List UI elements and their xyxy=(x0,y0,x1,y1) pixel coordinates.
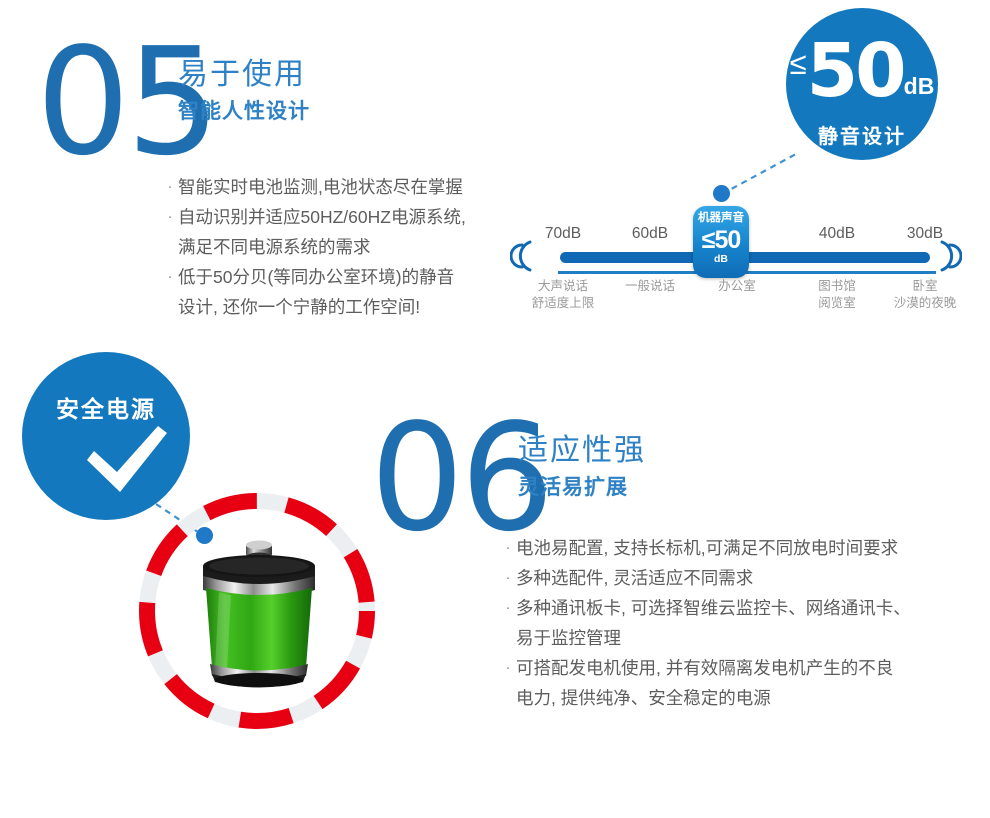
list-item-line: 电力, 提供纯净、安全稳定的电源 xyxy=(516,683,970,713)
section-06-bullet-list: · 电池易配置, 支持长标机,可满足不同放电时间要求 · 多种选配件, 灵活适应… xyxy=(500,533,970,713)
scale-tick-0: 70dB xyxy=(528,225,598,243)
list-item: · 可搭配发电机使用, 并有效隔离发电机产生的不良 电力, 提供纯净、安全稳定的… xyxy=(500,653,970,713)
less-equal-icon: ≤ xyxy=(790,46,807,81)
section-06-heading-group: 适应性强 灵活易扩展 xyxy=(518,434,646,499)
quiet-design-badge: ≤50dB 静音设计 xyxy=(786,8,938,160)
list-item-line: 多种通讯板卡, 可选择智维云监控卡、网络通讯卡、 xyxy=(516,593,970,623)
list-item: · 低于50分贝(等同办公室环境)的静音 设计, 还你一个宁静的工作空间! xyxy=(162,262,522,322)
list-item: · 电池易配置, 支持长标机,可满足不同放电时间要求 xyxy=(500,533,970,563)
quiet-badge-value: 50 xyxy=(807,28,904,114)
list-item-line: 设计, 还你一个宁静的工作空间! xyxy=(178,292,522,322)
sound-wave-left-icon xyxy=(510,239,536,273)
scale-tick-4: 30dB xyxy=(890,225,960,243)
machine-sound-badge: 机器声音 ≤50 dB xyxy=(693,206,749,278)
quiet-badge-unit: dB xyxy=(904,73,935,99)
list-item: · 智能实时电池监测,电池状态尽在掌握 xyxy=(162,172,522,202)
list-item-line: 低于50分贝(等同办公室环境)的静音 xyxy=(178,262,522,292)
bullet-dot-icon: · xyxy=(162,172,178,202)
battery-graphic-group xyxy=(133,487,381,735)
machine-badge-unit: dB xyxy=(693,254,749,265)
section-05-heading-group: 易于使用 智能人性设计 xyxy=(178,58,310,123)
check-mark-icon xyxy=(84,424,170,496)
list-item-line: 多种选配件, 灵活适应不同需求 xyxy=(516,563,970,593)
list-item-line: 电池易配置, 支持长标机,可满足不同放电时间要求 xyxy=(516,533,970,563)
scale-tick-1: 60dB xyxy=(615,225,685,243)
scale-label-4: 卧室 沙漠的夜晚 xyxy=(882,278,968,312)
bullet-dot-icon: · xyxy=(500,653,516,683)
connector-dot-quiet xyxy=(713,185,730,202)
list-item-line: 智能实时电池监测,电池状态尽在掌握 xyxy=(178,172,522,202)
bullet-dot-icon: · xyxy=(500,563,516,593)
list-item: · 多种选配件, 灵活适应不同需求 xyxy=(500,563,970,593)
quiet-badge-label: 静音设计 xyxy=(786,120,938,149)
battery-icon xyxy=(195,540,323,692)
sound-wave-right-icon xyxy=(936,239,962,273)
section-05-bullet-list: · 智能实时电池监测,电池状态尽在掌握 · 自动识别并适应50HZ/60HZ电源… xyxy=(162,172,522,322)
scale-label-1: 一般说话 xyxy=(607,278,693,295)
list-item-line: 自动识别并适应50HZ/60HZ电源系统, xyxy=(178,202,522,232)
quiet-badge-value-group: ≤50dB xyxy=(786,34,938,108)
bullet-dot-icon: · xyxy=(500,593,516,623)
section-05-subheading: 智能人性设计 xyxy=(178,100,310,123)
list-item-line: 可搭配发电机使用, 并有效隔离发电机产生的不良 xyxy=(516,653,970,683)
bullet-dot-icon: · xyxy=(162,202,178,232)
list-item: · 自动识别并适应50HZ/60HZ电源系统, 满足不同电源系统的需求 xyxy=(162,202,522,262)
machine-badge-value: ≤50 xyxy=(693,228,749,253)
section-05-heading: 易于使用 xyxy=(178,58,310,91)
machine-badge-title: 机器声音 xyxy=(693,206,749,225)
bullet-dot-icon: · xyxy=(500,533,516,563)
section-06-subheading: 灵活易扩展 xyxy=(518,476,646,499)
bullet-dot-icon: · xyxy=(162,262,178,292)
scale-label-0: 大声说话 舒适度上限 xyxy=(520,278,606,312)
scale-label-2: 办公室 xyxy=(694,278,780,295)
scale-label-3: 图书馆 阅览室 xyxy=(794,278,880,312)
scale-tick-3: 40dB xyxy=(802,225,872,243)
safe-power-label: 安全电源 xyxy=(22,390,190,424)
list-item-line: 满足不同电源系统的需求 xyxy=(178,232,522,262)
section-06-heading: 适应性强 xyxy=(518,434,646,467)
list-item-line: 易于监控管理 xyxy=(516,623,970,653)
list-item: · 多种通讯板卡, 可选择智维云监控卡、网络通讯卡、 易于监控管理 xyxy=(500,593,970,653)
